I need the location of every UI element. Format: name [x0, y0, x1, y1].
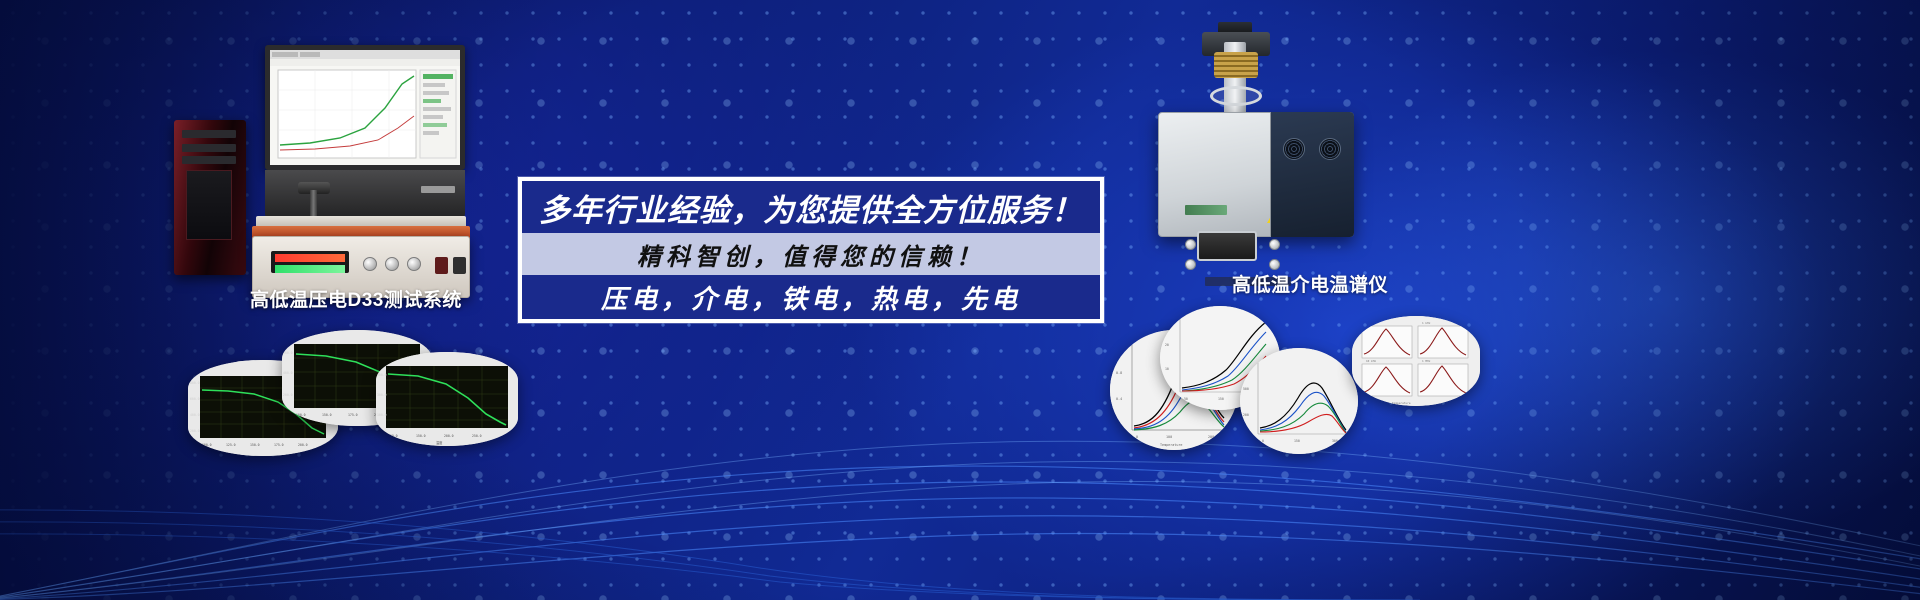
slogan-line-3: 压电，介电，铁电，热电，先电 [601, 279, 1021, 316]
svg-text:500: 500 [1243, 387, 1249, 391]
monitor-icon [265, 45, 465, 170]
svg-text:50: 50 [1184, 397, 1188, 401]
slogan-row-3: 压电，介电，铁电，热电，先电 [522, 275, 1100, 319]
svg-text:10: 10 [1165, 367, 1169, 371]
product-image-dielectric-spectrometer [1140, 28, 1400, 278]
svg-text:800.0: 800.0 [190, 381, 200, 385]
svg-text:200.0: 200.0 [298, 443, 308, 447]
svg-text:500.0: 500.0 [377, 373, 387, 377]
svg-text:300.0: 300.0 [377, 393, 387, 397]
svg-text:175.0: 175.0 [274, 443, 284, 447]
product-caption-left: 高低温压电D33测试系统 [250, 285, 462, 312]
svg-text:400.0: 400.0 [190, 413, 200, 417]
pc-tower-icon [174, 120, 246, 275]
svg-text:0.8: 0.8 [1116, 371, 1122, 375]
chart-thumbnail-3: 500.0300.0100.0 100.0150.0 200.0250.0 温度 [376, 352, 518, 446]
slogan-line-1: 多年行业经验，为您提供全方位服务！ [539, 185, 1083, 230]
instrument-dark-panel [1270, 112, 1354, 237]
product-caption-right: 高低温介电温谱仪 [1232, 270, 1388, 297]
svg-text:150.0: 150.0 [416, 434, 426, 438]
vent-grille-left [1283, 138, 1305, 160]
svg-text:150: 150 [1294, 439, 1300, 443]
svg-text:0: 0 [1262, 439, 1264, 443]
svg-text:Temperature: Temperature [1160, 443, 1182, 447]
slogan-line-2: 精科智创，值得您的信赖！ [637, 237, 985, 272]
svg-text:200.0: 200.0 [444, 434, 454, 438]
product-image-piezo-d33-system [160, 40, 510, 320]
hero-banner: 800.0600.0 400.0200.0 100.0125.0 150.017… [0, 0, 1920, 600]
svg-text:150.0: 150.0 [250, 443, 260, 447]
svg-text:10 kHz: 10 kHz [1366, 359, 1376, 363]
svg-text:200.0: 200.0 [283, 393, 293, 397]
controller-display [271, 251, 349, 273]
monitor-base-icon [265, 170, 465, 218]
slogan-panel: 多年行业经验，为您提供全方位服务！ 精科智创，值得您的信赖！ 压电，介电，铁电，… [518, 177, 1104, 323]
svg-text:600.0: 600.0 [190, 397, 200, 401]
svg-text:100: 100 [1166, 435, 1172, 439]
svg-text:600.0: 600.0 [283, 351, 293, 355]
svg-text:20: 20 [1165, 343, 1169, 347]
focus-ring-icon [1210, 86, 1262, 106]
slogan-row-2: 精科智创，值得您的信赖！ [522, 233, 1100, 275]
coil-assembly [1214, 52, 1258, 78]
monitor-screen-plot [270, 50, 460, 165]
svg-text:250.0: 250.0 [472, 434, 482, 438]
svg-text:温度: 温度 [436, 440, 443, 445]
svg-text:400.0: 400.0 [283, 371, 293, 375]
svg-text:1 MHz: 1 MHz [1422, 359, 1431, 363]
chart-thumbnail-7: 100 Hz1 kHz 10 kHz1 MHz Temperature [1352, 316, 1480, 406]
svg-text:0: 0 [1136, 435, 1138, 439]
svg-text:100.0: 100.0 [377, 413, 387, 417]
svg-text:200: 200 [1243, 413, 1249, 417]
display-window [1197, 231, 1257, 261]
svg-text:175.0: 175.0 [348, 413, 358, 417]
slogan-row-1: 多年行业经验，为您提供全方位服务！ [522, 181, 1100, 233]
svg-text:150.0: 150.0 [322, 413, 332, 417]
chart-thumbnail-6: 800500 2000 0150300 [1240, 348, 1358, 454]
brand-logo [1185, 205, 1227, 215]
svg-text:125.0: 125.0 [226, 443, 236, 447]
vent-grille-right [1319, 138, 1341, 160]
svg-text:0.4: 0.4 [1116, 397, 1122, 401]
svg-text:150: 150 [1218, 397, 1224, 401]
svg-text:1 kHz: 1 kHz [1422, 321, 1431, 325]
svg-text:200.0: 200.0 [190, 429, 200, 433]
